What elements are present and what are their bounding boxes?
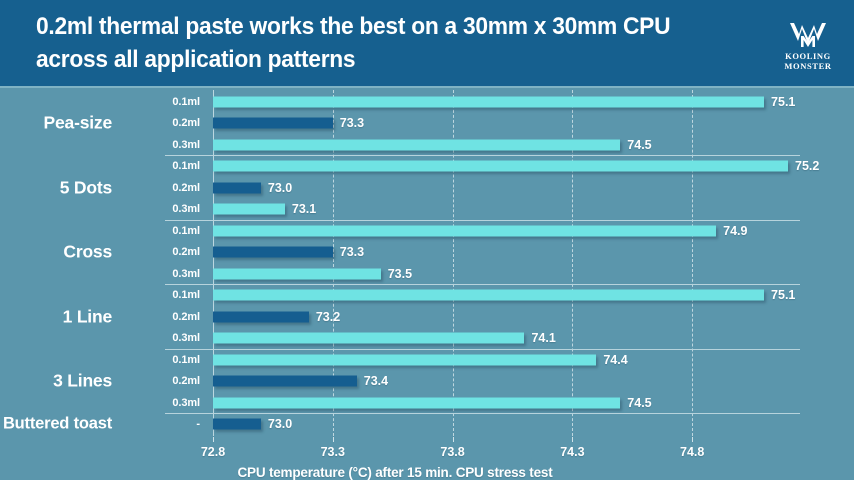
tick-mark <box>692 437 693 442</box>
bar[interactable] <box>213 311 309 322</box>
bar[interactable] <box>213 204 285 215</box>
chart-row: 0.1ml74.4 <box>0 349 854 371</box>
series-label: 0.2ml <box>120 246 200 258</box>
header-banner: 0.2ml thermal paste works the best on a … <box>0 0 854 88</box>
x-tick-label: 72.8 <box>201 445 225 459</box>
chart-row: 0.2ml73.4 <box>0 371 854 393</box>
chart-row: 0.1ml75.1 <box>0 91 854 113</box>
chart-row: -73.0 <box>0 414 854 436</box>
series-label: - <box>120 418 200 430</box>
chart-row: 0.3ml74.5 <box>0 392 854 414</box>
series-label: 0.3ml <box>120 139 200 151</box>
tick-mark <box>213 437 214 442</box>
x-tick-label: 74.3 <box>560 445 584 459</box>
chart-row: 0.1ml74.9 <box>0 220 854 242</box>
chart-row: 0.2ml73.3 <box>0 113 854 135</box>
x-tick-label: 74.8 <box>680 445 704 459</box>
chart-row: 0.3ml74.1 <box>0 328 854 350</box>
series-label: 0.1ml <box>120 354 200 366</box>
bar-value-label: 73.3 <box>340 245 364 259</box>
monster-crown-icon <box>788 22 828 50</box>
bar[interactable] <box>213 96 764 107</box>
x-axis-title: CPU temperature (°C) after 15 min. CPU s… <box>0 465 790 480</box>
bar-value-label: 74.5 <box>627 396 651 410</box>
bar[interactable] <box>213 354 596 365</box>
series-label: 0.2ml <box>120 375 200 387</box>
series-label: 0.3ml <box>120 268 200 280</box>
series-label: 0.3ml <box>120 203 200 215</box>
bar[interactable] <box>213 376 357 387</box>
chart-row: 0.2ml73.2 <box>0 306 854 328</box>
chart-row: 0.2ml73.0 <box>0 177 854 199</box>
bar-value-label: 73.0 <box>268 181 292 195</box>
bar[interactable] <box>213 247 333 258</box>
bar[interactable] <box>213 225 716 236</box>
bar[interactable] <box>213 333 524 344</box>
bar-chart: Pea-size5 DotsCross1 Line3 LinesButtered… <box>0 88 854 480</box>
bar-value-label: 74.4 <box>603 353 627 367</box>
bar-value-label: 73.0 <box>268 417 292 431</box>
chart-row: 0.2ml73.3 <box>0 242 854 264</box>
chart-row: 0.1ml75.1 <box>0 285 854 307</box>
x-tick-label: 73.8 <box>440 445 464 459</box>
chart-row: 0.3ml73.5 <box>0 263 854 285</box>
bar-value-label: 75.1 <box>771 288 795 302</box>
bar-value-label: 75.2 <box>795 159 819 173</box>
bar-value-label: 73.1 <box>292 202 316 216</box>
bar-value-label: 73.3 <box>340 116 364 130</box>
chart-row: 0.1ml75.2 <box>0 156 854 178</box>
bar[interactable] <box>213 419 261 430</box>
bar-value-label: 75.1 <box>771 95 795 109</box>
logo-line-2: MONSTER <box>770 61 846 71</box>
series-label: 0.3ml <box>120 397 200 409</box>
chart-rows: 0.1ml75.10.2ml73.30.3ml74.50.1ml75.20.2m… <box>0 91 854 435</box>
bar-value-label: 73.5 <box>388 267 412 281</box>
tick-mark <box>333 437 334 442</box>
tick-mark <box>453 437 454 442</box>
bar[interactable] <box>213 397 620 408</box>
bar-value-label: 74.1 <box>531 331 555 345</box>
bar-value-label: 73.2 <box>316 310 340 324</box>
bar[interactable] <box>213 118 333 129</box>
series-label: 0.1ml <box>120 289 200 301</box>
series-label: 0.2ml <box>120 117 200 129</box>
page-title: 0.2ml thermal paste works the best on a … <box>36 10 715 76</box>
chart-row: 0.3ml74.5 <box>0 134 854 156</box>
series-label: 0.2ml <box>120 182 200 194</box>
series-label: 0.1ml <box>120 160 200 172</box>
bar[interactable] <box>213 268 381 279</box>
chart-row: 0.3ml73.1 <box>0 199 854 221</box>
series-label: 0.1ml <box>120 225 200 237</box>
bar-value-label: 73.4 <box>364 374 388 388</box>
bar[interactable] <box>213 139 620 150</box>
value-axis: CPU temperature (°C) after 15 min. CPU s… <box>0 437 854 480</box>
brand-logo: KOOLING MONSTER <box>770 22 846 84</box>
series-label: 0.2ml <box>120 311 200 323</box>
bar[interactable] <box>213 161 788 172</box>
logo-line-1: KOOLING <box>770 51 846 61</box>
bar-value-label: 74.5 <box>627 138 651 152</box>
bar-value-label: 74.9 <box>723 224 747 238</box>
bar[interactable] <box>213 182 261 193</box>
bar[interactable] <box>213 290 764 301</box>
series-label: 0.3ml <box>120 332 200 344</box>
tick-mark <box>572 437 573 442</box>
x-tick-label: 73.3 <box>321 445 345 459</box>
series-label: 0.1ml <box>120 96 200 108</box>
